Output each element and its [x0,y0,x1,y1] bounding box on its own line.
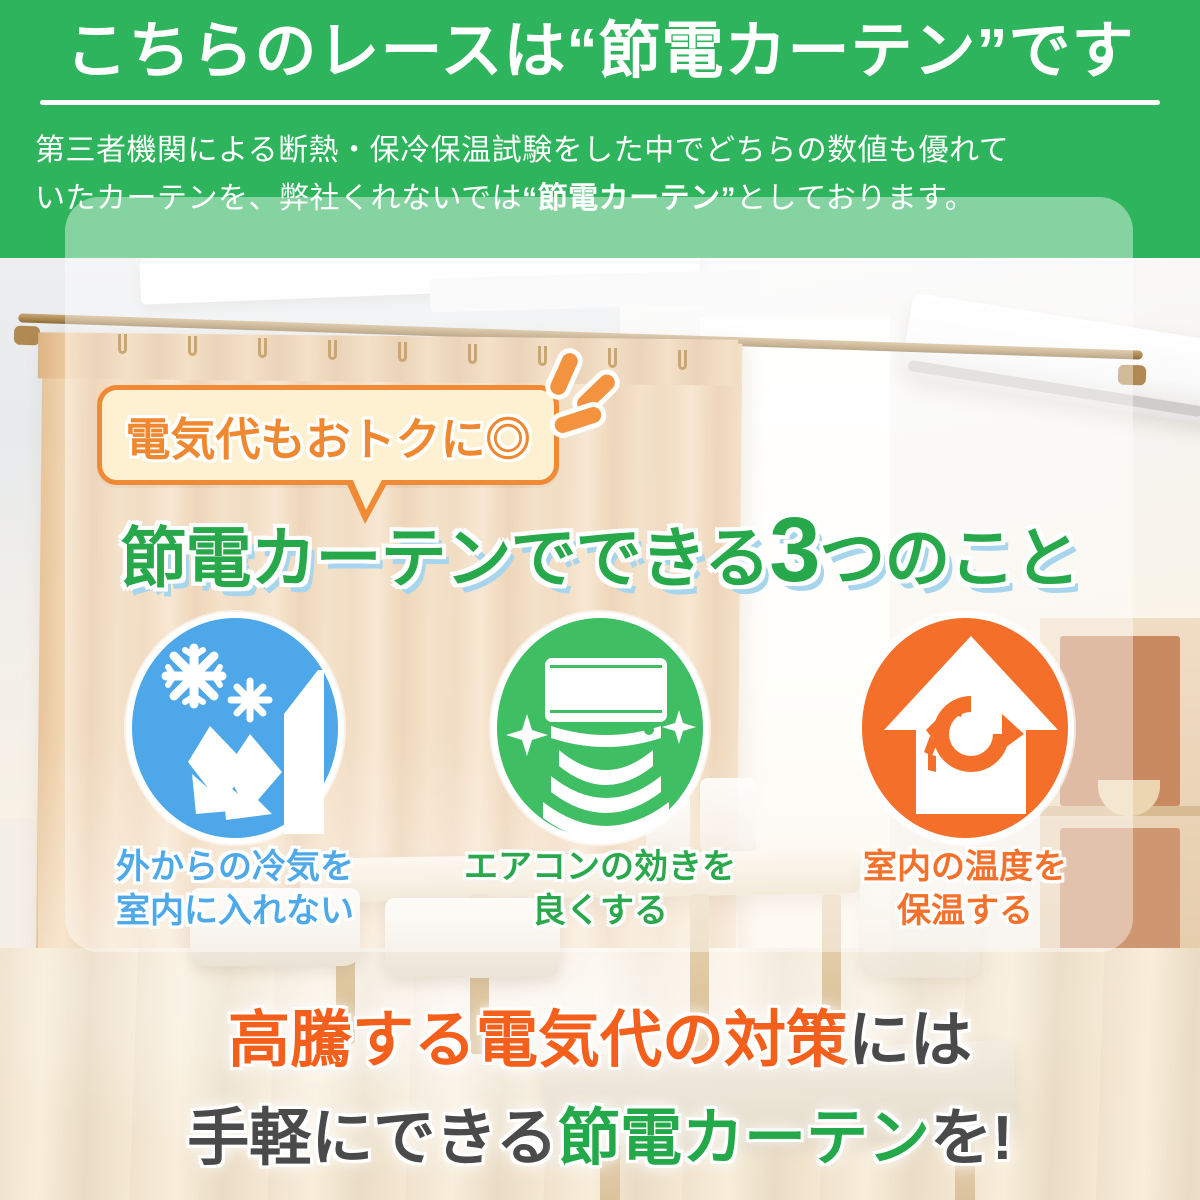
speech-bubble-text: 電気代もおトクに◎ [125,403,530,468]
feature-caption-3: 室内の温度を 保温する [800,845,1130,933]
feature-caption-3-line1: 室内の温度を [863,848,1067,886]
headline-part2: つのこと [819,521,1079,595]
feature-icon-3 [840,612,1090,862]
cold-air-blocked-icon [126,612,344,844]
tagline-line2-dark-b: を! [930,1104,1013,1173]
product-ad-page: こちらのレースは“節電カーテン”です 第三者機関による断熱・保冷保温試験をした中… [0,0,1200,1200]
headline-number: 3 [769,499,819,601]
feature-icon-2 [475,612,725,862]
curtain-rod-cap-left [14,326,41,346]
tagline-line1-dark: には [848,1006,972,1075]
air-conditioner-efficiency-icon [491,612,709,844]
header-divider [40,100,1160,105]
house-heat-retention-icon [856,612,1074,844]
feature-caption-2-line2: 良くする [532,892,668,930]
tagline-line-1: 高騰する電気代の対策には [0,1000,1200,1098]
tagline-line2-dark-a: 手軽にできる [187,1104,558,1173]
bottom-tagline: 高騰する電気代の対策には 手軽にできる節電カーテンを! [0,1000,1200,1196]
savings-speech-bubble: 電気代もおトクに◎ [97,385,559,485]
feature-icon-1 [110,612,360,862]
feature-caption-3-line2: 保温する [897,892,1033,930]
tagline-line-2: 手軽にできる節電カーテンを! [0,1098,1200,1196]
feature-icons-row [0,612,1200,862]
feature-caption-2: エアコンの効きを 良くする [435,845,765,933]
page-title: こちらのレースは“節電カーテン”です [66,14,1135,90]
feature-caption-2-line1: エアコンの効きを [464,848,736,886]
header-subtitle-line1: 第三者機関による断熱・保冷保温試験をした中でどちらの数値も優れて [35,127,1165,175]
feature-caption-1-line1: 外からの冷気を [116,848,354,886]
tagline-line1-orange: 高騰する電気代の対策 [228,1006,848,1075]
feature-caption-1-line2: 室内に入れない [116,892,354,930]
headline-part1: 節電カーテンでできる [121,521,770,595]
feature-caption-1: 外からの冷気を 室内に入れない [70,845,400,933]
main-headline: 節電カーテンでできる3つのこと [0,498,1200,603]
tagline-line2-green: 節電カーテン [558,1104,930,1173]
